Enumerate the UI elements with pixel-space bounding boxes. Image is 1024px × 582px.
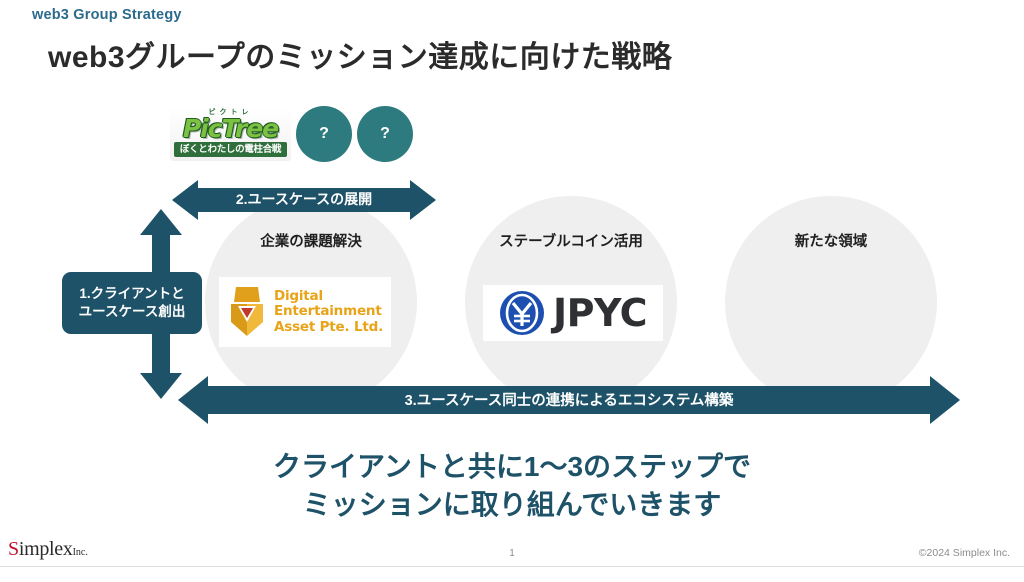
- slide-canvas: web3 Group Strategy web3グループのミッション達成に向けた…: [0, 0, 1024, 582]
- pictree-wordmark: PicTree: [170, 114, 291, 143]
- page-title: web3グループのミッション達成に向けた戦略: [48, 32, 672, 76]
- slide-tagline-line1: クライアントと共に1〜3のステップで: [0, 448, 1024, 486]
- dea-logo: Digital Entertainment Asset Pte. Ltd.: [219, 277, 391, 347]
- dea-logo-line1: Digital: [274, 289, 383, 304]
- step2-label: 2.ユースケースの展開: [172, 188, 436, 210]
- dea-logo-line3: Asset Pte. Ltd.: [274, 320, 383, 335]
- step1-label-line1: 1.クライアントと: [79, 285, 186, 303]
- dea-logo-text: Digital Entertainment Asset Pte. Ltd.: [274, 289, 383, 334]
- slide-tagline: クライアントと共に1〜3のステップで ミッションに取り組んでいきます: [0, 448, 1024, 524]
- jpyc-logo-wordmark: JPYC: [553, 294, 647, 332]
- dea-diamond-icon: [227, 286, 267, 338]
- yen-coin-icon: [499, 290, 545, 336]
- slide-tagline-line2: ミッションに取り組んでいきます: [0, 486, 1024, 524]
- step1-label-box: 1.クライアントと ユースケース創出: [62, 272, 202, 334]
- question-circle-icon-1: ?: [296, 106, 352, 162]
- pictree-logo-icon: ピクトレ PicTree ぼくとわたしの電柱合戦: [170, 107, 291, 161]
- jpyc-logo: JPYC: [483, 285, 663, 341]
- copyright-text: ©2024 Simplex Inc.: [919, 547, 1010, 559]
- pictree-subtitle: ぼくとわたしの電柱合戦: [174, 142, 287, 157]
- usecase-circle-1-title: 企業の課題解決: [205, 230, 417, 251]
- step1-label-line2: ユースケース創出: [79, 303, 186, 321]
- dea-logo-line2: Entertainment: [274, 304, 383, 319]
- step3-label: 3.ユースケース同士の連携によるエコシステム構築: [178, 389, 960, 413]
- usecase-circle-2-title: ステーブルコイン活用: [465, 230, 677, 251]
- usecase-circle-3-title: 新たな領域: [725, 230, 937, 251]
- question-circle-icon-2: ?: [357, 106, 413, 162]
- slide-eyebrow: web3 Group Strategy: [32, 7, 182, 23]
- footer-divider: [0, 566, 1024, 567]
- page-number: 1: [0, 548, 1024, 559]
